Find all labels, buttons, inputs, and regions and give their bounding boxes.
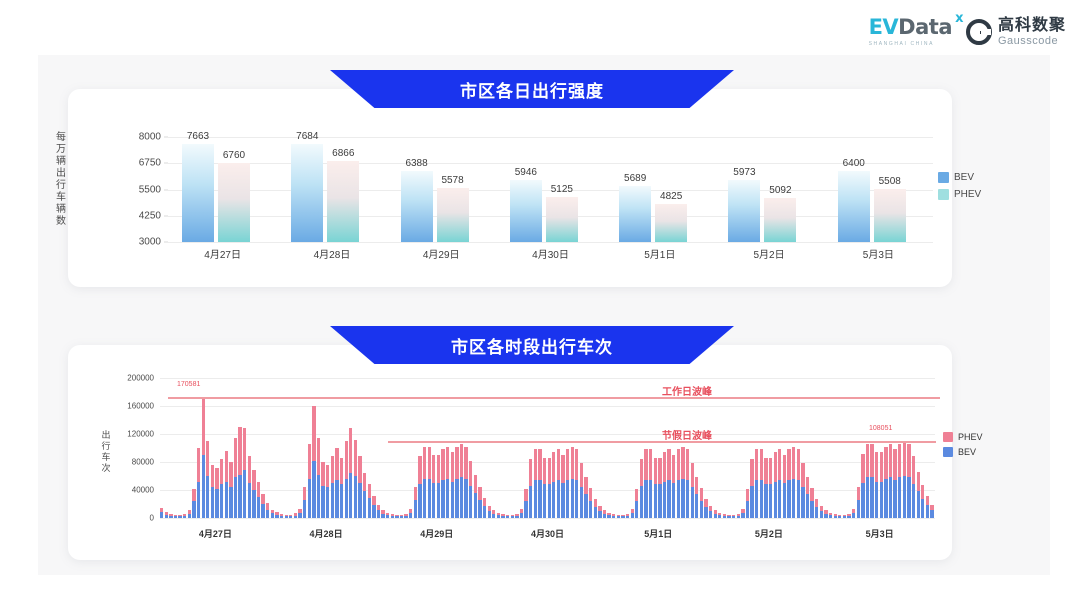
chart2-bar-segment-bev bbox=[921, 499, 924, 518]
chart2-bar-segment-phev bbox=[594, 499, 597, 507]
gausscode-text: 高科数聚 Gausscode bbox=[998, 18, 1066, 47]
chart2-stacked-bar[interactable] bbox=[589, 488, 592, 518]
chart2-stacked-bar[interactable] bbox=[866, 444, 869, 518]
chart2-bar-segment-bev bbox=[695, 494, 698, 518]
chart2-stacked-bar[interactable] bbox=[275, 512, 278, 518]
chart2-stacked-bar[interactable] bbox=[492, 510, 495, 518]
chart2-bar-segment-bev bbox=[640, 486, 643, 518]
chart2-stacked-bar[interactable] bbox=[714, 510, 717, 518]
chart2-stacked-bar[interactable] bbox=[386, 513, 389, 518]
chart1-bar-value-label: 5508 bbox=[879, 176, 901, 187]
chart2-stacked-bar[interactable] bbox=[515, 514, 518, 518]
chart2-stacked-bar[interactable] bbox=[654, 458, 657, 518]
chart2-stacked-bar[interactable] bbox=[571, 447, 574, 518]
chart2-y-tick-label: 200000 bbox=[127, 374, 154, 383]
chart1-bar-phev[interactable]: 4825 bbox=[655, 204, 687, 242]
chart2-bar-segment-bev bbox=[192, 501, 195, 518]
chart2-bar-segment-bev bbox=[737, 516, 740, 518]
chart2-stacked-bar[interactable] bbox=[451, 452, 454, 518]
chart2-bar-segment-bev bbox=[409, 513, 412, 518]
chart2-stacked-bar[interactable] bbox=[446, 447, 449, 518]
chart2-bar-segment-bev bbox=[612, 516, 615, 518]
chart2-stacked-bar[interactable] bbox=[197, 448, 200, 518]
chart2-stacked-bar[interactable] bbox=[404, 514, 407, 518]
chart2-bar-segment-bev bbox=[317, 475, 320, 518]
chart2-bar-segment-phev bbox=[326, 465, 329, 487]
chart2-bar-segment-phev bbox=[192, 489, 195, 501]
chart2-stacked-bar[interactable] bbox=[340, 458, 343, 518]
chart2-bar-segment-phev bbox=[921, 485, 924, 499]
chart2-stacked-bar[interactable] bbox=[202, 399, 205, 518]
chart2-bar-segment-bev bbox=[801, 487, 804, 518]
chart2-stacked-bar[interactable] bbox=[787, 449, 790, 518]
chart2-stacked-bar[interactable] bbox=[238, 427, 241, 518]
chart2-stacked-bar[interactable] bbox=[691, 463, 694, 518]
chart1-bar-phev[interactable]: 5125 bbox=[546, 197, 578, 242]
evdata-tagline: SHANGHAI CHINA bbox=[869, 41, 934, 47]
chart2-bar-segment-bev bbox=[797, 480, 800, 518]
chart2-bar-segment-bev bbox=[538, 480, 541, 518]
chart2-stacked-bar[interactable] bbox=[165, 512, 168, 518]
chart2-bar-segment-phev bbox=[418, 456, 421, 484]
chart2-stacked-bar[interactable] bbox=[289, 515, 292, 518]
chart2-bar-segment-phev bbox=[695, 477, 698, 494]
chart2-stacked-bar[interactable] bbox=[520, 509, 523, 518]
chart2-stacked-bar[interactable] bbox=[464, 447, 467, 518]
chart2-bar-segment-phev bbox=[875, 452, 878, 481]
chart2-stacked-bar[interactable] bbox=[704, 499, 707, 518]
chart2-stacked-bar[interactable] bbox=[709, 506, 712, 518]
chart2-stacked-bar[interactable] bbox=[820, 506, 823, 518]
chart2-stacked-bar[interactable] bbox=[363, 473, 366, 518]
chart2-stacked-bar[interactable] bbox=[930, 505, 933, 518]
chart2-bar-segment-bev bbox=[884, 479, 887, 518]
chart2-stacked-bar[interactable] bbox=[400, 515, 403, 518]
chart2-bar-segment-bev bbox=[441, 480, 444, 518]
chart1-bar-value-label: 7684 bbox=[296, 131, 318, 142]
chart2-stacked-bar[interactable] bbox=[178, 515, 181, 518]
chart1-bar-bev[interactable]: 5689 bbox=[619, 186, 651, 242]
chart2-stacked-bar[interactable] bbox=[926, 496, 929, 518]
chart2-stacked-bar[interactable] bbox=[534, 449, 537, 518]
chart2-stacked-bar[interactable] bbox=[428, 447, 431, 518]
chart2-stacked-bar[interactable] bbox=[423, 447, 426, 518]
chart2-bar-segment-phev bbox=[870, 444, 873, 478]
chart2-stacked-bar[interactable] bbox=[718, 513, 721, 518]
chart2-bar-segment-bev bbox=[847, 516, 850, 518]
chart2-stacked-bar[interactable] bbox=[474, 475, 477, 518]
chart2-stacked-bar[interactable] bbox=[621, 515, 624, 518]
chart1-y-tick-label: 5500 bbox=[139, 184, 161, 195]
chart2-stacked-bar[interactable] bbox=[358, 456, 361, 518]
chart2-stacked-bar[interactable] bbox=[192, 489, 195, 518]
chart2-stacked-bar[interactable] bbox=[797, 449, 800, 518]
chart2-stacked-bar[interactable] bbox=[617, 515, 620, 518]
chart2-stacked-bar[interactable] bbox=[649, 449, 652, 518]
chart1-bar-value-label: 5092 bbox=[769, 185, 791, 196]
chart1-bar-bev[interactable]: 5946 bbox=[510, 180, 542, 242]
chart2-stacked-bar[interactable] bbox=[460, 444, 463, 518]
evdata-logo: EVDatax SHANGHAI CHINA bbox=[869, 17, 952, 47]
chart2-stacked-bar[interactable] bbox=[483, 498, 486, 518]
chart2-stacked-bar[interactable] bbox=[261, 494, 264, 518]
chart2-stacked-bar[interactable] bbox=[345, 441, 348, 518]
chart2-bar-segment-bev bbox=[810, 501, 813, 519]
chart2-bar-segment-bev bbox=[280, 516, 283, 518]
chart2-stacked-bar[interactable] bbox=[658, 458, 661, 518]
chart2-bar-segment-bev bbox=[428, 479, 431, 518]
chart2-bar-segment-phev bbox=[774, 452, 777, 481]
chart2-bar-segment-bev bbox=[783, 483, 786, 518]
chart2-stacked-bar[interactable] bbox=[672, 455, 675, 518]
chart2-stacked-bar[interactable] bbox=[607, 513, 610, 518]
chart2-stacked-bar[interactable] bbox=[612, 514, 615, 518]
chart2-bar-segment-bev bbox=[451, 482, 454, 518]
chart2-stacked-bar[interactable] bbox=[188, 510, 191, 518]
chart2-stacked-bar[interactable] bbox=[857, 487, 860, 518]
chart2-bar-segment-bev bbox=[414, 500, 417, 518]
chart2-bar-segment-bev bbox=[681, 479, 684, 518]
chart2-stacked-bar[interactable] bbox=[903, 441, 906, 518]
chart2-stacked-bar[interactable] bbox=[829, 513, 832, 518]
chart2-stacked-bar[interactable] bbox=[220, 459, 223, 518]
chart2-stacked-bar[interactable] bbox=[326, 465, 329, 518]
chart2-stacked-bar[interactable] bbox=[349, 428, 352, 518]
chart2-stacked-bar[interactable] bbox=[478, 487, 481, 519]
chart2-bar-segment-phev bbox=[700, 488, 703, 501]
chart2-stacked-bar[interactable] bbox=[548, 458, 551, 518]
chart2-bar-segment-phev bbox=[571, 447, 574, 479]
chart2-stacked-bar[interactable] bbox=[870, 444, 873, 518]
chart2-bar-segment-phev bbox=[580, 463, 583, 487]
chart1-bar-bev[interactable]: 7663 bbox=[182, 144, 214, 242]
chart1-legend-item-phev[interactable]: PHEV bbox=[938, 189, 981, 200]
chart2-stacked-bar[interactable] bbox=[169, 514, 172, 518]
chart2-bar-segment-bev bbox=[912, 484, 915, 518]
chart2-bar-segment-bev bbox=[220, 484, 223, 518]
chart2-stacked-bar[interactable] bbox=[524, 489, 527, 518]
chart2-stacked-bar[interactable] bbox=[644, 449, 647, 518]
chart2-stacked-bar[interactable] bbox=[432, 455, 435, 518]
chart2-stacked-bar[interactable] bbox=[257, 482, 260, 518]
chart2-bar-segment-phev bbox=[640, 459, 643, 486]
chart2-bar-segment-phev bbox=[691, 463, 694, 487]
chart2-legend[interactable]: PHEVBEV bbox=[943, 432, 983, 462]
chart2-stacked-bar[interactable] bbox=[727, 515, 730, 518]
chart2-y-tick-label: 80000 bbox=[132, 458, 154, 467]
chart2-stacked-bar[interactable] bbox=[243, 428, 246, 518]
chart2-stacked-bar[interactable] bbox=[455, 447, 458, 518]
chart2-stacked-bar[interactable] bbox=[681, 447, 684, 518]
chart2-stacked-bar[interactable] bbox=[580, 463, 583, 518]
chart2-bar-segment-bev bbox=[520, 513, 523, 518]
chart2-stacked-bar[interactable] bbox=[884, 447, 887, 518]
chart2-stacked-bar[interactable] bbox=[225, 451, 228, 518]
chart1-legend[interactable]: BEVPHEV bbox=[938, 172, 981, 206]
gausscode-name-cn: 高科数聚 bbox=[998, 18, 1066, 34]
chart2-stacked-bar[interactable] bbox=[488, 506, 491, 518]
chart2-stacked-bar[interactable] bbox=[635, 489, 638, 518]
chart2-bar-segment-phev bbox=[483, 498, 486, 506]
chart2-bar-segment-bev bbox=[580, 487, 583, 518]
chart2-stacked-bar[interactable] bbox=[294, 513, 297, 518]
chart2-stacked-bar[interactable] bbox=[215, 468, 218, 518]
chart2-bar-segment-phev bbox=[884, 447, 887, 479]
chart2-stacked-bar[interactable] bbox=[391, 514, 394, 518]
chart2-stacked-bar[interactable] bbox=[575, 449, 578, 518]
chart2-bar-segment-phev bbox=[349, 428, 352, 473]
chart2-stacked-bar[interactable] bbox=[834, 514, 837, 518]
chart2-stacked-bar[interactable] bbox=[778, 449, 781, 518]
chart2-bar-segment-bev bbox=[917, 491, 920, 518]
chart2-stacked-bar[interactable] bbox=[266, 503, 269, 518]
chart2-bar-segment-bev bbox=[654, 484, 657, 518]
chart2-stacked-bar[interactable] bbox=[783, 455, 786, 518]
chart2-stacked-bar[interactable] bbox=[815, 499, 818, 518]
chart2-bar-segment-phev bbox=[308, 444, 311, 479]
chart2-bar-segment-phev bbox=[197, 448, 200, 482]
chart2-peak-value-label: 170581 bbox=[177, 381, 200, 388]
chart2-stacked-bar[interactable] bbox=[861, 454, 864, 518]
chart2-stacked-bar[interactable] bbox=[409, 509, 412, 518]
chart2-stacked-bar[interactable] bbox=[700, 488, 703, 518]
chart2-bar-segment-bev bbox=[432, 483, 435, 518]
chart2-stacked-bar[interactable] bbox=[174, 515, 177, 518]
chart2-stacked-bar[interactable] bbox=[414, 487, 417, 518]
chart2-bar-segment-bev bbox=[566, 480, 569, 518]
chart2-stacked-bar[interactable] bbox=[418, 456, 421, 518]
chart2-stacked-bar[interactable] bbox=[469, 461, 472, 518]
chart2-stacked-bar[interactable] bbox=[598, 506, 601, 518]
chart2-stacked-bar[interactable] bbox=[317, 438, 320, 518]
chart1-bar-value-label: 5578 bbox=[441, 175, 463, 186]
chart2-stacked-bar[interactable] bbox=[368, 484, 371, 518]
chart2-stacked-bar[interactable] bbox=[506, 515, 509, 518]
chart2-bar-segment-phev bbox=[797, 449, 800, 480]
chart2-stacked-bar[interactable] bbox=[437, 455, 440, 518]
chart2-annotation-line-workday-peak bbox=[168, 397, 940, 399]
chart2-stacked-bar[interactable] bbox=[852, 509, 855, 518]
chart2-stacked-bar[interactable] bbox=[303, 487, 306, 518]
chart2-bar-segment-bev bbox=[275, 515, 278, 518]
chart2-stacked-bar[interactable] bbox=[280, 514, 283, 518]
chart2-stacked-bar[interactable] bbox=[810, 488, 813, 518]
chart2-bar-segment-bev bbox=[903, 476, 906, 518]
chart2-bar-segment-bev bbox=[234, 477, 237, 518]
chart2-bar-segment-bev bbox=[524, 501, 527, 519]
chart2-stacked-bar[interactable] bbox=[331, 456, 334, 518]
chart2-legend-item-bev[interactable]: BEV bbox=[943, 447, 983, 457]
chart2-bar-segment-bev bbox=[889, 477, 892, 518]
chart1-bar-phev[interactable]: 6760 bbox=[218, 163, 250, 242]
chart2-stacked-bar[interactable] bbox=[561, 455, 564, 518]
chart2-bar-segment-phev bbox=[704, 499, 707, 507]
chart2-stacked-bar[interactable] bbox=[285, 515, 288, 518]
chart2-stacked-bar[interactable] bbox=[737, 514, 740, 518]
chart2-stacked-bar[interactable] bbox=[847, 514, 850, 518]
chart2-stacked-bar[interactable] bbox=[557, 449, 560, 518]
chart2-stacked-bar[interactable] bbox=[529, 459, 532, 518]
chart2-stacked-bar[interactable] bbox=[898, 444, 901, 518]
gausscode-logo: 高科数聚 Gausscode bbox=[966, 18, 1066, 47]
chart2-bar-segment-bev bbox=[460, 477, 463, 518]
chart1-bar-phev[interactable]: 5092 bbox=[764, 198, 796, 242]
chart2-stacked-bar[interactable] bbox=[377, 505, 380, 518]
chart2-bar-segment-bev bbox=[506, 516, 509, 518]
chart2-stacked-bar[interactable] bbox=[584, 477, 587, 518]
chart2-stacked-bar[interactable] bbox=[566, 449, 569, 518]
chart2-stacked-bar[interactable] bbox=[640, 459, 643, 518]
chart2-bar-segment-bev bbox=[861, 483, 864, 518]
chart2-bar-segment-bev bbox=[391, 516, 394, 518]
chart1-bar-bev[interactable]: 6400 bbox=[838, 171, 870, 242]
chart2-stacked-bar[interactable] bbox=[501, 514, 504, 518]
chart2-stacked-bar[interactable] bbox=[824, 510, 827, 518]
chart2-bar-segment-phev bbox=[469, 461, 472, 486]
chart2-stacked-bar[interactable] bbox=[183, 514, 186, 518]
chart2-stacked-bar[interactable] bbox=[312, 406, 315, 518]
chart2-stacked-bar[interactable] bbox=[806, 477, 809, 518]
chart2-stacked-bar[interactable] bbox=[543, 458, 546, 518]
gausscode-logo-mark-icon bbox=[966, 19, 992, 45]
chart2-stacked-bar[interactable] bbox=[441, 449, 444, 518]
chart2-stacked-bar[interactable] bbox=[677, 449, 680, 518]
chart2-bar-segment-bev bbox=[372, 505, 375, 518]
chart2-stacked-bar[interactable] bbox=[271, 510, 274, 518]
chart2-bar-segment-phev bbox=[335, 448, 338, 480]
chart1-bar-phev[interactable]: 6866 bbox=[327, 161, 359, 242]
chart2-bar-segment-bev bbox=[820, 511, 823, 518]
chart2-stacked-bar[interactable] bbox=[723, 514, 726, 518]
chart2-bar-segment-phev bbox=[202, 399, 205, 455]
chart2-stacked-bar[interactable] bbox=[395, 515, 398, 518]
chart1-bar-bev[interactable]: 5973 bbox=[728, 180, 760, 242]
chart2-stacked-bar[interactable] bbox=[769, 458, 772, 518]
chart2-stacked-bar[interactable] bbox=[921, 485, 924, 518]
chart2-bar-segment-phev bbox=[557, 449, 560, 480]
chart2-y-tick-label: 120000 bbox=[127, 430, 154, 439]
chart2-stacked-bar[interactable] bbox=[497, 513, 500, 518]
chart1-bar-bev[interactable]: 6388 bbox=[401, 171, 433, 242]
chart2-stacked-bar[interactable] bbox=[663, 452, 666, 518]
chart2-stacked-bar[interactable] bbox=[695, 477, 698, 518]
chart2-bar-segment-phev bbox=[206, 441, 209, 476]
chart2-bar-segment-bev bbox=[718, 515, 721, 518]
chart2-stacked-bar[interactable] bbox=[372, 496, 375, 518]
chart1-bar-bev[interactable]: 7684 bbox=[291, 144, 323, 242]
chart2-stacked-bar[interactable] bbox=[893, 449, 896, 518]
chart2-stacked-bar[interactable] bbox=[538, 449, 541, 518]
chart2-stacked-bar[interactable] bbox=[746, 489, 749, 518]
chart2-stacked-bar[interactable] bbox=[381, 510, 384, 518]
chart2-stacked-bar[interactable] bbox=[912, 456, 915, 518]
chart2-legend-item-phev[interactable]: PHEV bbox=[943, 432, 983, 442]
chart2-bar-segment-bev bbox=[248, 483, 251, 518]
chart2-stacked-bar[interactable] bbox=[686, 449, 689, 518]
chart2-bar-segment-phev bbox=[414, 487, 417, 500]
chart1-bar-phev[interactable]: 5578 bbox=[437, 188, 469, 242]
evdata-prefix: EV bbox=[869, 15, 899, 39]
chart2-stacked-bar[interactable] bbox=[792, 447, 795, 518]
chart2-stacked-bar[interactable] bbox=[880, 452, 883, 518]
chart2-bar-segment-bev bbox=[584, 494, 587, 518]
chart1-legend-item-bev[interactable]: BEV bbox=[938, 172, 981, 183]
chart2-bar-segment-bev bbox=[188, 514, 191, 518]
chart2-bar-segment-bev bbox=[866, 477, 869, 518]
chart2-stacked-bar[interactable] bbox=[229, 462, 232, 518]
chart2-bar-segment-phev bbox=[312, 406, 315, 461]
chart2-stacked-bar[interactable] bbox=[211, 465, 214, 518]
chart2-stacked-bar[interactable] bbox=[843, 515, 846, 518]
chart2-bar-segment-bev bbox=[617, 516, 620, 518]
chart2-bar-segment-phev bbox=[441, 449, 444, 480]
chart2-banner-title: 市区各时段出行车次 bbox=[330, 326, 734, 364]
chart2-stacked-bar[interactable] bbox=[917, 472, 920, 518]
chart2-stacked-bar[interactable] bbox=[206, 441, 209, 518]
chart2-bar-segment-bev bbox=[764, 484, 767, 518]
chart2-x-tick-label: 4月29日 bbox=[392, 527, 482, 540]
chart2-bar-segment-phev bbox=[321, 462, 324, 486]
chart2-bar-segment-phev bbox=[926, 496, 929, 505]
chart2-stacked-bar[interactable] bbox=[298, 509, 301, 518]
chart2-stacked-bar[interactable] bbox=[594, 499, 597, 518]
chart2-stacked-bar[interactable] bbox=[667, 449, 670, 518]
chart2-bar-segment-bev bbox=[852, 513, 855, 518]
chart2-stacked-bar[interactable] bbox=[252, 470, 255, 518]
chart2-stacked-bar[interactable] bbox=[308, 444, 311, 518]
chart2-stacked-bar[interactable] bbox=[321, 462, 324, 518]
chart1-bar-phev[interactable]: 5508 bbox=[874, 189, 906, 242]
chart2-x-tick-label: 5月1日 bbox=[613, 527, 703, 540]
chart2-bar-segment-phev bbox=[229, 462, 232, 487]
chart2-stacked-bar[interactable] bbox=[160, 508, 163, 518]
chart2-stacked-bar[interactable] bbox=[764, 458, 767, 518]
chart2-stacked-bar[interactable] bbox=[354, 440, 357, 518]
chart2-stacked-bar[interactable] bbox=[750, 459, 753, 518]
chart1-bar-value-label: 6400 bbox=[843, 158, 865, 169]
chart2-stacked-bar[interactable] bbox=[755, 449, 758, 518]
chart2-gridline bbox=[160, 378, 935, 379]
chart2-stacked-bar[interactable] bbox=[552, 452, 555, 518]
chart2-bar-segment-phev bbox=[672, 455, 675, 483]
chart2-bar-segment-bev bbox=[806, 494, 809, 518]
chart2-stacked-bar[interactable] bbox=[511, 515, 514, 518]
chart2-stacked-bar[interactable] bbox=[907, 444, 910, 518]
chart2-bar-segment-bev bbox=[358, 483, 361, 518]
chart2-bar-segment-bev bbox=[700, 501, 703, 519]
chart2-stacked-bar[interactable] bbox=[801, 463, 804, 518]
chart2-stacked-bar[interactable] bbox=[741, 509, 744, 518]
chart2-bar-segment-phev bbox=[889, 444, 892, 478]
chart2-stacked-bar[interactable] bbox=[889, 444, 892, 518]
chart2-stacked-bar[interactable] bbox=[774, 452, 777, 518]
chart2-bar-segment-phev bbox=[654, 458, 657, 485]
chart2-stacked-bar[interactable] bbox=[234, 438, 237, 518]
chart2-bar-segment-phev bbox=[667, 449, 670, 480]
chart2-stacked-bar[interactable] bbox=[838, 515, 841, 518]
chart2-bar-segment-bev bbox=[345, 479, 348, 518]
chart2-stacked-bar[interactable] bbox=[760, 449, 763, 518]
chart2-bar-segment-phev bbox=[566, 449, 569, 480]
chart2-stacked-bar[interactable] bbox=[335, 448, 338, 518]
chart2-stacked-bar[interactable] bbox=[626, 514, 629, 518]
chart2-stacked-bar[interactable] bbox=[248, 456, 251, 518]
chart2-stacked-bar[interactable] bbox=[603, 510, 606, 518]
chart2-stacked-bar[interactable] bbox=[732, 515, 735, 518]
chart2-stacked-bar[interactable] bbox=[631, 509, 634, 518]
chart2-stacked-bar[interactable] bbox=[875, 452, 878, 518]
chart2-bar-segment-phev bbox=[248, 456, 251, 483]
